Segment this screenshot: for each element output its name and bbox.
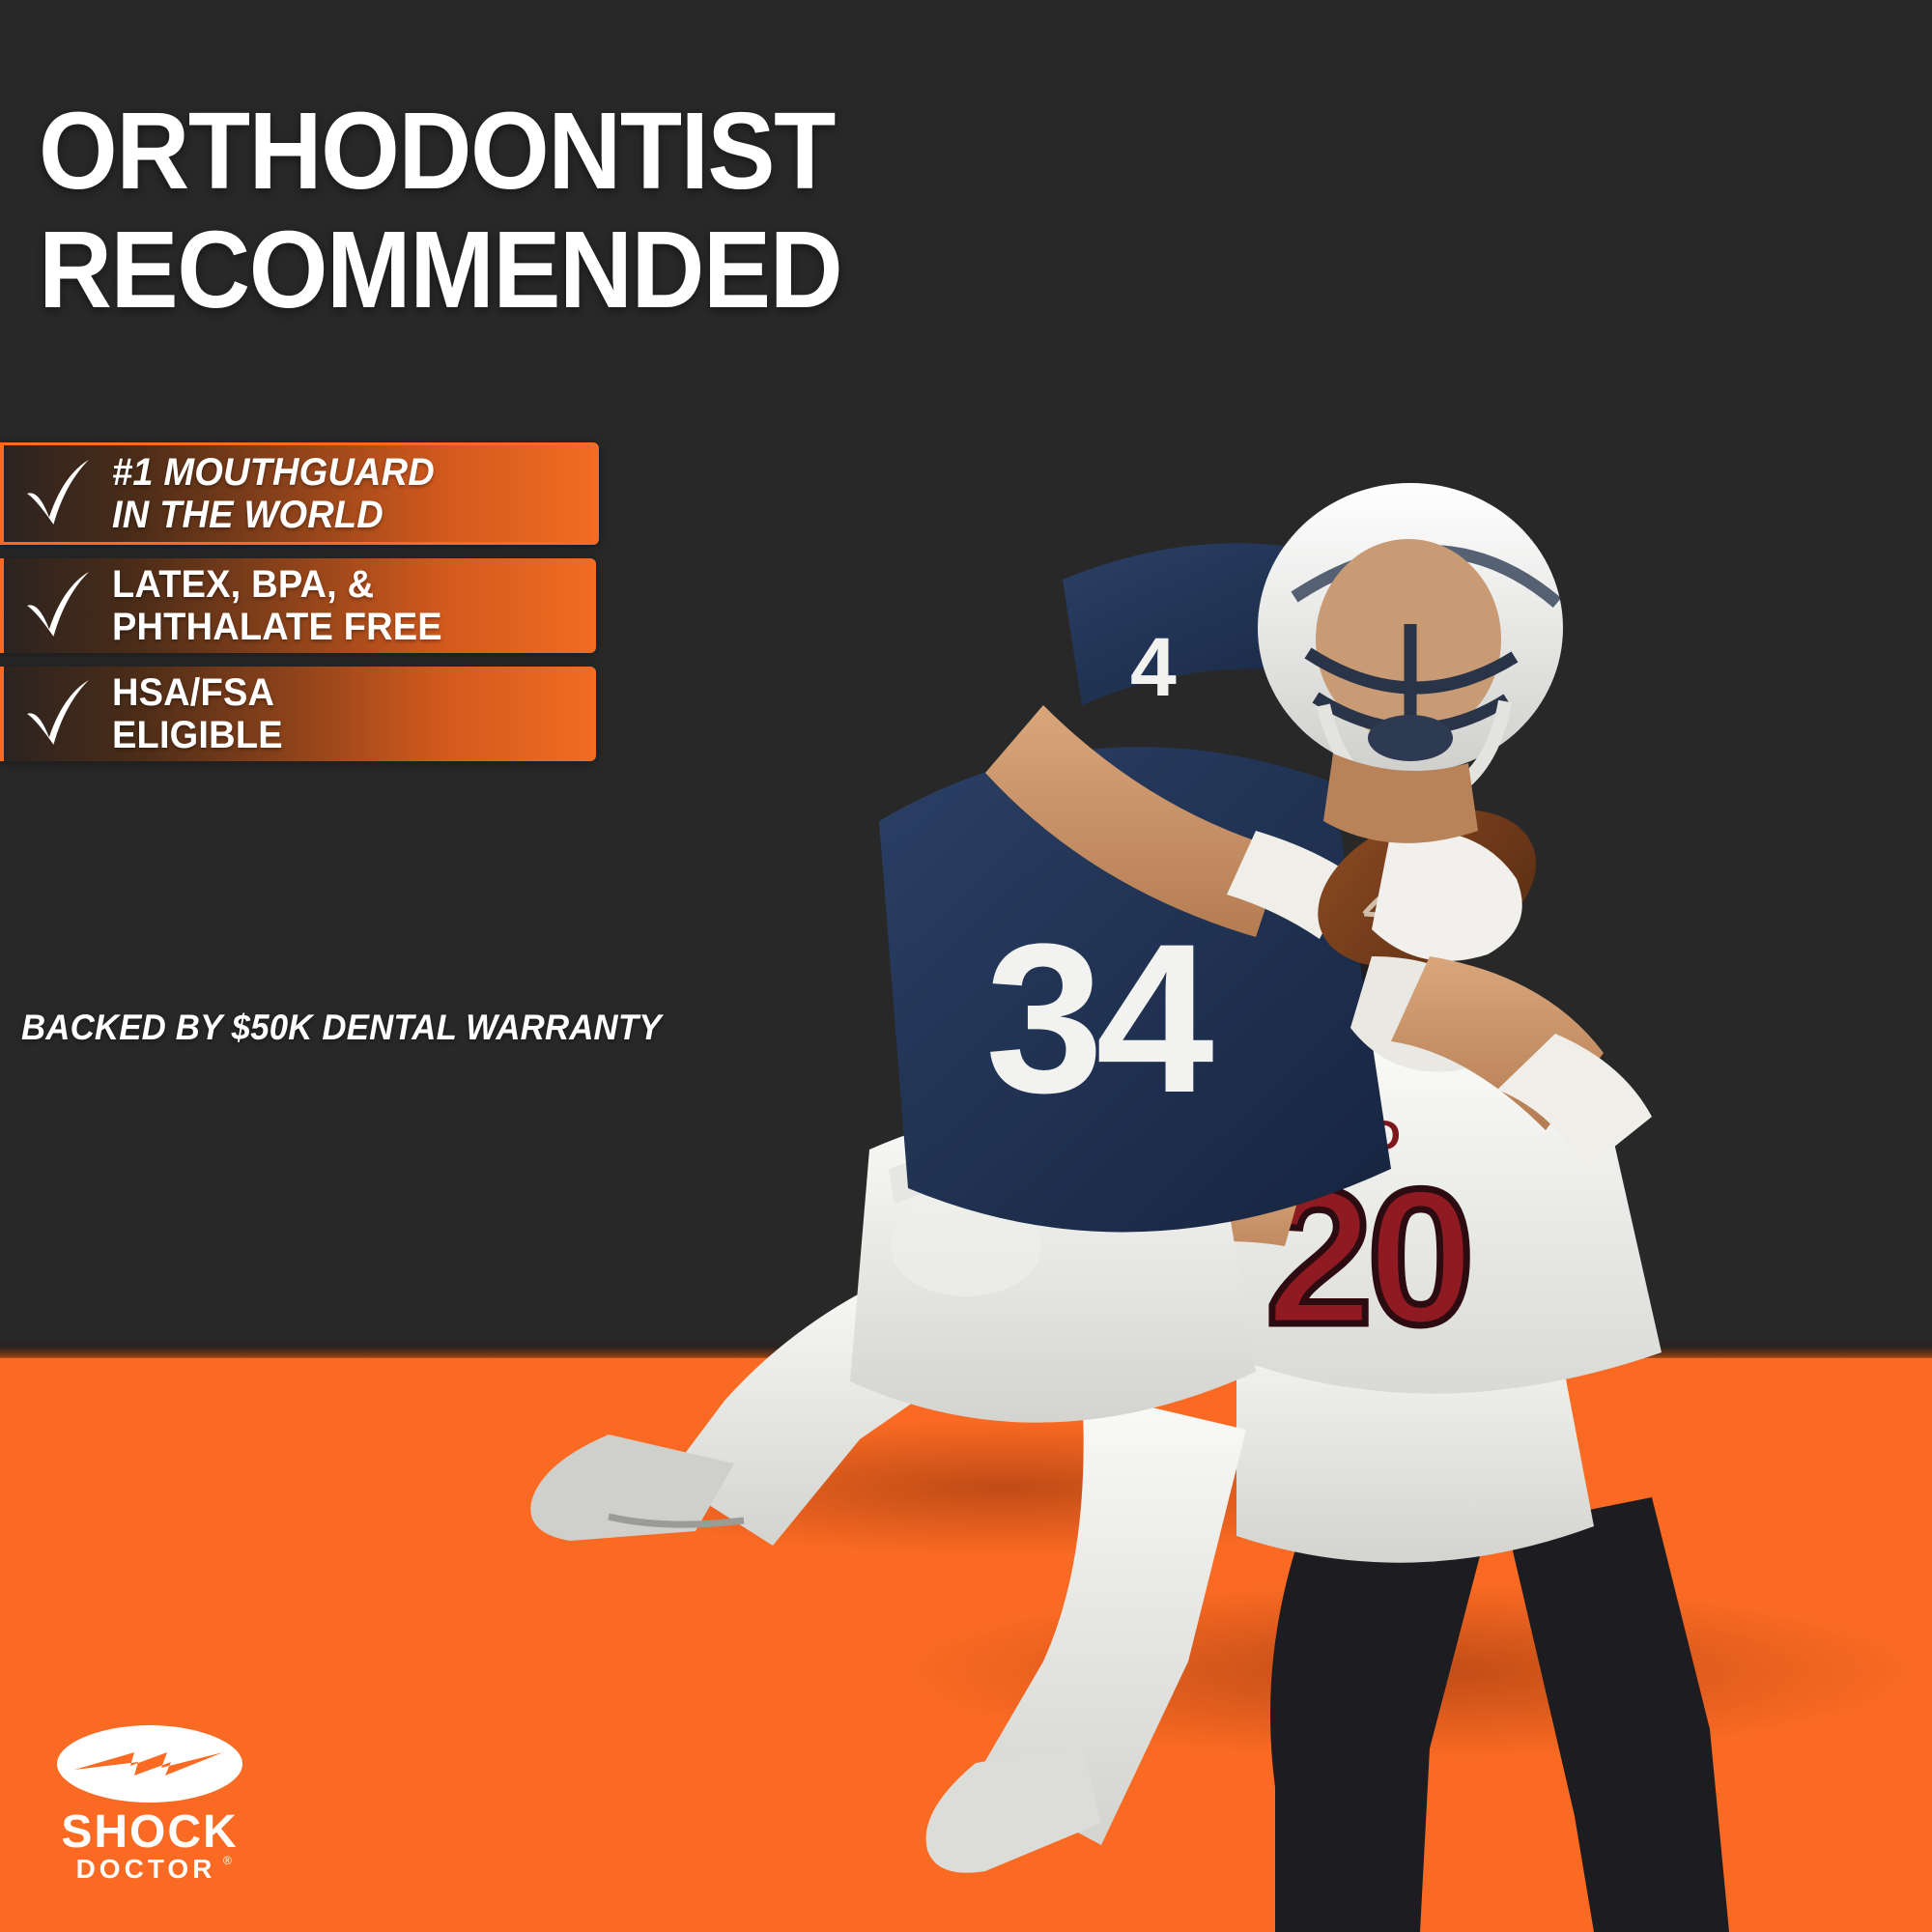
football-action-photo: TODD 20: [464, 415, 1932, 1932]
headline-line-2: RECOMMENDED: [39, 211, 1098, 329]
bolt-icon: [57, 1725, 242, 1803]
warranty-note: BACKED BY $50K DENTAL WARRANTY: [21, 1008, 662, 1048]
benefit-badge-2: LATEX, BPA, & PHTHALATE FREE: [0, 558, 596, 653]
benefit-2-line-2: PHTHALATE FREE: [112, 606, 442, 648]
svg-text:4: 4: [1130, 621, 1177, 714]
benefit-2-line-1: LATEX, BPA, &: [112, 563, 442, 606]
benefit-3-line-2: ELIGIBLE: [112, 714, 283, 756]
brand-name: SHOCK: [61, 1806, 238, 1858]
benefit-1-line-1: #1 MOUTHGUARD: [112, 451, 435, 494]
ad-creative: TODD 20: [0, 0, 1932, 1932]
benefit-badge-1-text: #1 MOUTHGUARD IN THE WORLD: [112, 451, 435, 536]
benefit-badge-3-text: HSA/FSA ELIGIBLE: [112, 671, 283, 756]
shock-doctor-logo: SHOCK DOCTOR ®: [53, 1719, 246, 1889]
benefit-1-line-2: IN THE WORLD: [112, 494, 435, 536]
benefit-badge-2-text: LATEX, BPA, & PHTHALATE FREE: [112, 563, 442, 648]
checkmark-icon: [4, 457, 112, 530]
checkmark-icon: [4, 569, 112, 642]
brand-subname: DOCTOR: [76, 1854, 216, 1884]
benefit-3-line-1: HSA/FSA: [112, 671, 283, 714]
trademark-symbol: ®: [223, 1854, 232, 1867]
checkmark-icon: [4, 677, 112, 751]
page-title: ORTHODONTIST RECOMMENDED: [39, 92, 1098, 329]
benefit-badge-1: #1 MOUTHGUARD IN THE WORLD: [0, 442, 599, 545]
benefit-badge-3: HSA/FSA ELIGIBLE: [0, 667, 596, 761]
svg-text:34: 34: [985, 899, 1213, 1137]
benefit-list: #1 MOUTHGUARD IN THE WORLD LATEX, BPA, &…: [0, 442, 618, 775]
headline-line-1: ORTHODONTIST: [39, 92, 1098, 211]
